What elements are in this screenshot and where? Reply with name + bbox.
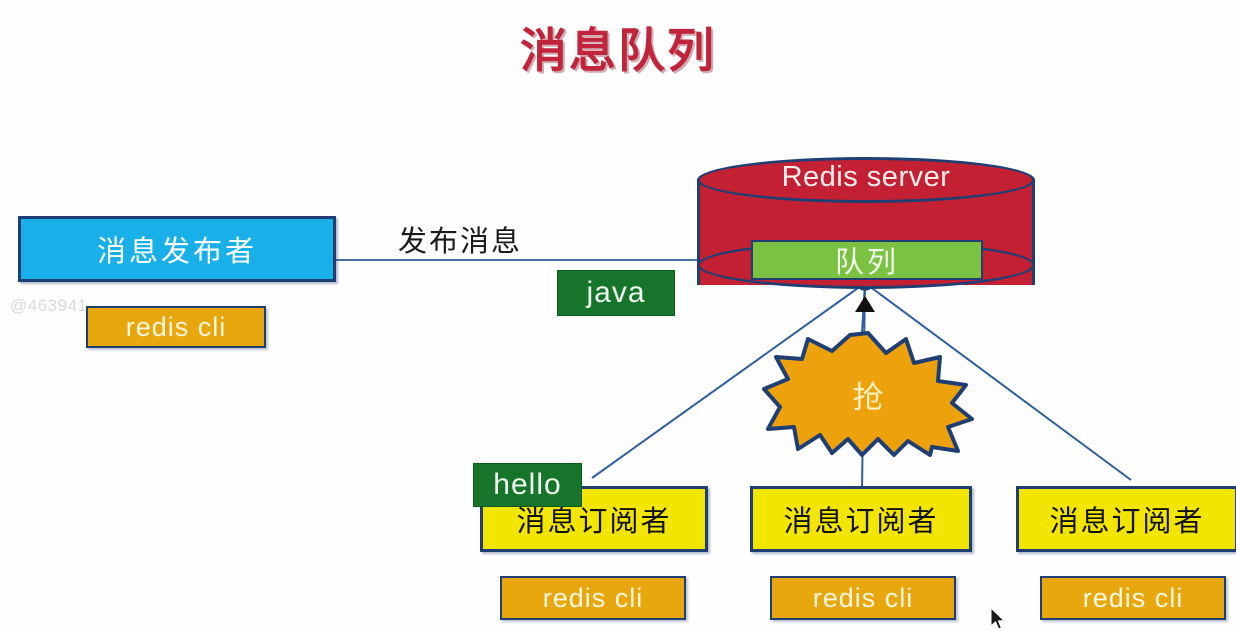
- publisher-cli-label: redis cli: [126, 312, 227, 343]
- subscriber-box-3[interactable]: 消息订阅者: [1016, 486, 1236, 552]
- subscriber-label-2: 消息订阅者: [783, 498, 938, 540]
- subscriber-box-2[interactable]: 消息订阅者: [750, 486, 972, 552]
- starburst-label: 抢: [762, 331, 974, 457]
- java-tag[interactable]: java: [557, 270, 675, 316]
- subscriber-cli-label-1: redis cli: [543, 583, 644, 614]
- subscriber-redis-cli-tag-3[interactable]: redis cli: [1040, 576, 1226, 620]
- publisher-box[interactable]: 消息发布者: [18, 216, 336, 282]
- page-title: 消息队列: [0, 12, 1236, 81]
- queue-label: 队列: [835, 239, 899, 281]
- watermark: @463941: [10, 296, 88, 316]
- subscriber-label-3: 消息订阅者: [1049, 498, 1204, 540]
- subscriber-cli-label-3: redis cli: [1083, 583, 1184, 614]
- mouse-pointer-icon: [990, 607, 1006, 631]
- hello-tag-label: hello: [493, 468, 561, 502]
- redis-server-title: Redis server: [697, 161, 1035, 194]
- publish-message-label: 发布消息: [398, 218, 522, 260]
- redis-server-cylinder[interactable]: Redis server 队列: [697, 157, 1035, 307]
- diagram-canvas: 消息队列 消息发布者 redis cli 发布消息 java Redis ser…: [0, 0, 1236, 631]
- grab-starburst[interactable]: 抢: [762, 331, 974, 457]
- hello-tag[interactable]: hello: [473, 463, 582, 507]
- publisher-redis-cli-tag[interactable]: redis cli: [86, 306, 266, 348]
- queue-box[interactable]: 队列: [751, 240, 983, 280]
- subscriber-redis-cli-tag-1[interactable]: redis cli: [500, 576, 686, 620]
- subscriber-redis-cli-tag-2[interactable]: redis cli: [770, 576, 956, 620]
- subscriber-cli-label-2: redis cli: [813, 583, 914, 614]
- java-tag-label: java: [586, 276, 645, 310]
- publisher-label: 消息发布者: [97, 228, 257, 270]
